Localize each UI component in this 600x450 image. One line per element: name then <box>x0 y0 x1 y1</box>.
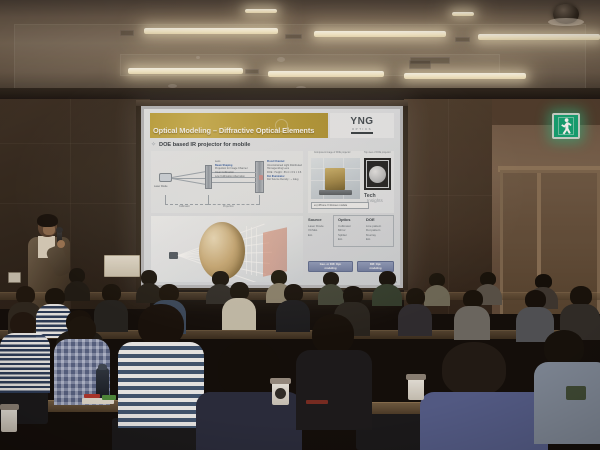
lecture-hall-photo: Optical Modeling – Diffractive Optical E… <box>0 0 600 450</box>
raytrace-emitter <box>169 252 178 259</box>
doe-caption: Top view of DOE projector <box>364 152 391 154</box>
exit-sign <box>552 113 580 139</box>
brand-line-2: Insights <box>367 199 383 204</box>
ceiling-light <box>404 73 526 79</box>
schematic-collimator <box>205 165 212 189</box>
cup-logo <box>275 388 286 399</box>
column-header: Source <box>308 217 324 222</box>
module-caption-box: ex) iPhone X Romeo module <box>311 202 369 209</box>
yng-logo: YNG OPTICS <box>330 113 394 138</box>
marker <box>102 395 116 400</box>
schematic-source <box>159 173 172 182</box>
audience-member <box>398 288 432 334</box>
audience-member <box>222 282 256 328</box>
projection-screen: Optical Modeling – Diffractive Optical E… <box>141 106 403 288</box>
logo-subtitle: OPTICS <box>352 127 372 131</box>
pen <box>306 400 328 404</box>
right-wall-header <box>492 99 600 125</box>
column-item: Etc. <box>308 233 324 238</box>
ceiling-light <box>128 68 243 74</box>
ceiling-light <box>478 34 600 40</box>
teardown-caption: Component image of DOE projector <box>314 152 351 154</box>
bullet-marker-icon: ✧ <box>151 142 156 148</box>
slide-title: Optical Modeling – Diffractive Optical E… <box>153 126 333 135</box>
coffee-cup-lid <box>270 378 291 384</box>
teardown-photo <box>311 158 360 199</box>
bottle-cap <box>98 364 107 370</box>
ceiling <box>0 0 600 96</box>
coffee-cup <box>408 378 424 400</box>
presentation-slide: Optical Modeling – Diffractive Optical E… <box>144 109 400 285</box>
ceiling-light <box>452 12 474 16</box>
schematic-projector <box>255 161 264 193</box>
audience-member <box>454 290 490 338</box>
doe-frame <box>366 160 389 188</box>
table-column-doe: DOE Line pattern Dot pattern M-array Etc… <box>366 217 381 242</box>
component-table: Source Laser Diode VCSEL Etc. Optics Col… <box>308 217 394 257</box>
microphone-head-icon <box>56 227 63 233</box>
column-item: Dot pattern <box>366 228 381 233</box>
table-column-source: Source Laser Diode VCSEL Etc. <box>308 217 324 237</box>
bullet-text: DOE based IR projector for mobile <box>159 142 250 148</box>
optical-schematic: Laser Diode LensBeam ShapingProjection f… <box>151 151 303 213</box>
logo-wordmark: YNG <box>350 117 373 127</box>
schematic-notes-right: Flood ChannelUnconstrained Light Distrib… <box>267 160 302 182</box>
ceiling-light <box>245 9 277 13</box>
slide-bullet: ✧ DOE based IR projector for mobile <box>151 142 250 148</box>
column-item: Etc. <box>338 237 351 242</box>
column-header: Optics <box>338 217 351 222</box>
plant <box>566 386 586 400</box>
audience-member <box>420 342 548 450</box>
audience-member <box>118 304 204 424</box>
table-column-optics: Optics Collimator Mirror Splitter Etc. <box>338 217 351 242</box>
audience <box>0 268 600 450</box>
audience-member <box>534 330 600 440</box>
dome-camera-icon <box>553 4 579 24</box>
photo-panel: Component image of DOE projector Top vie… <box>308 151 394 213</box>
column-header: DOE <box>366 217 381 222</box>
coffee-cup-lid <box>406 374 426 380</box>
presenter-hair <box>37 214 58 227</box>
coffee-cup <box>1 408 17 432</box>
logo-rule <box>351 132 373 134</box>
audience-member <box>296 314 372 426</box>
pen <box>84 394 100 398</box>
module-caption: ex) iPhone X Romeo module <box>314 204 347 207</box>
audience-member <box>0 312 50 392</box>
schematic-notes-left: LensBeam ShapingProjection for Image Cha… <box>215 160 247 178</box>
column-item: Etc. <box>366 237 381 242</box>
ceiling-light <box>268 71 384 77</box>
ceiling-light <box>314 31 446 37</box>
ceiling-light <box>144 28 278 34</box>
coffee-cup-lid <box>0 404 19 410</box>
presenter-hand <box>57 240 65 248</box>
schematic-source-label: Laser Diode <box>154 185 167 189</box>
